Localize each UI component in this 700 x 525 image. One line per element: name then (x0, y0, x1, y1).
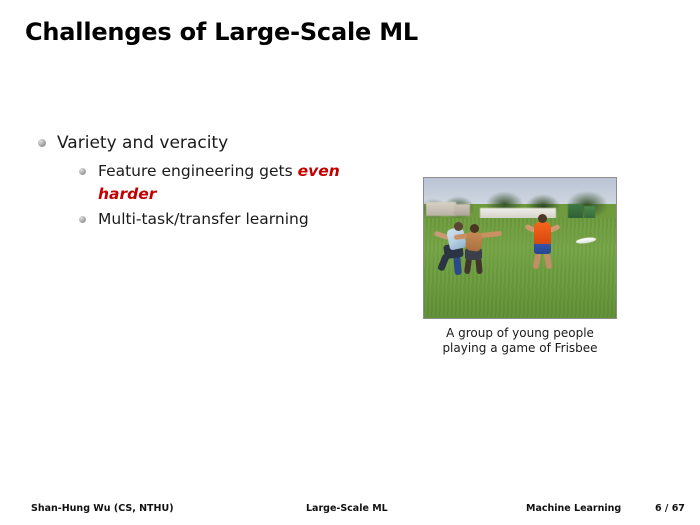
photo-player-two (465, 231, 483, 252)
figure-caption-line1: A group of young people (423, 326, 617, 341)
photo-building (454, 204, 470, 216)
photo-player-one (454, 222, 463, 231)
ball-bullet-icon (79, 168, 86, 175)
photo-frisbee-players (423, 177, 617, 319)
list-item-level1-label: Variety and veracity (57, 133, 228, 153)
figure-caption: A group of young people playing a game o… (423, 326, 617, 356)
figure-block: A group of young people playing a game o… (423, 177, 617, 356)
list-item-level2-label: Feature engineering gets (98, 162, 298, 180)
list-item-level2: Multi-task/transfer learning (73, 208, 394, 231)
ball-bullet-icon (79, 216, 86, 223)
slide-footer: Shan-Hung Wu (CS, NTHU) Large-Scale ML M… (0, 503, 700, 517)
photo-player-three (538, 214, 547, 223)
bullet-list: Variety and veracity Feature engineering… (34, 132, 394, 231)
footer-subject: Large-Scale ML (306, 503, 388, 514)
page-title: Challenges of Large-Scale ML (25, 18, 418, 46)
photo-player-three (534, 222, 551, 244)
presentation-slide: Challenges of Large-Scale ML Variety and… (0, 0, 700, 525)
list-item-level2: Feature engineering gets even harder (73, 160, 394, 206)
list-item-level2-label: Multi-task/transfer learning (98, 210, 309, 228)
photo-player-two (470, 224, 479, 233)
list-item-level1: Variety and veracity (34, 132, 394, 154)
footer-author: Shan-Hung Wu (CS, NTHU) (31, 503, 174, 514)
footer-page-number: 6 / 67 (655, 503, 685, 514)
photo-building (426, 202, 456, 216)
ball-bullet-icon (38, 139, 46, 147)
footer-event: Machine Learning (526, 503, 621, 514)
figure-caption-line2: playing a game of Frisbee (423, 341, 617, 356)
